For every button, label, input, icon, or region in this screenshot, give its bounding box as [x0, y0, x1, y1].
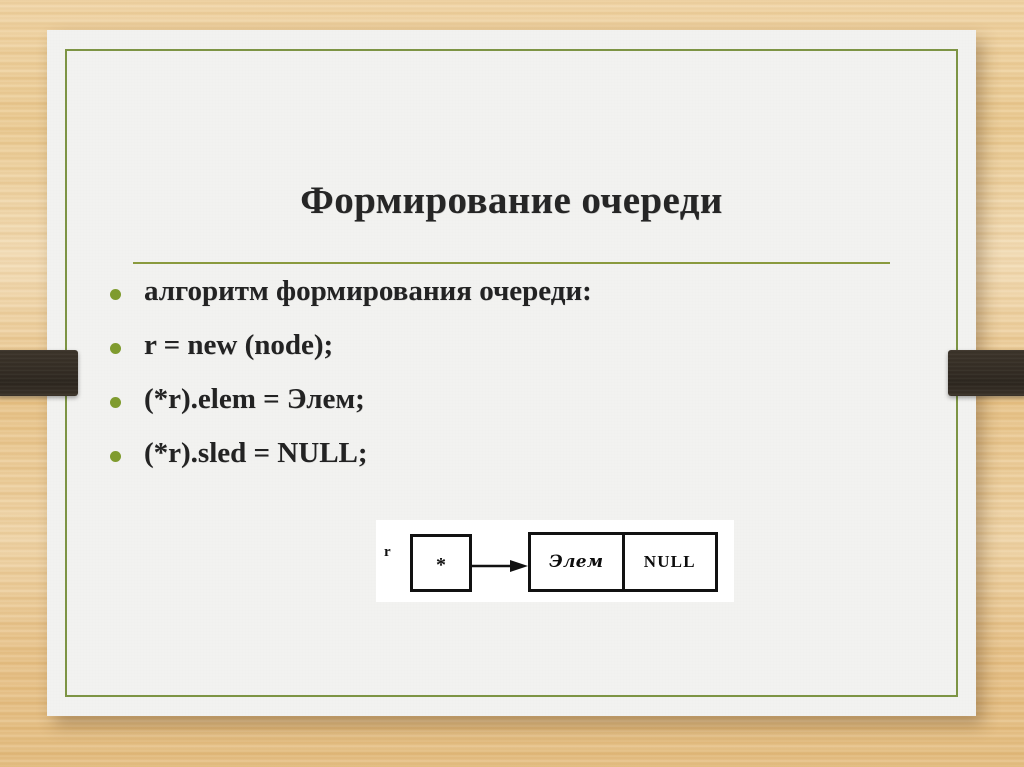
- arrow-right-icon: [472, 560, 528, 572]
- slide-paper: Формирование очереди алгоритм формирован…: [47, 30, 976, 716]
- side-tab-left: [0, 350, 78, 396]
- page-title: Формирование очереди: [47, 178, 976, 223]
- list-item: (*r).sled = NULL;: [110, 435, 910, 489]
- side-tab-right: [948, 350, 1024, 396]
- list-item-label: (*r).sled = NULL;: [144, 435, 368, 471]
- linked-list-diagram: r * Элем NULL: [376, 520, 734, 602]
- bullet-list: алгоритм формирования очереди: r = new (…: [110, 273, 910, 489]
- diagram-node-elem-cell: Элем: [531, 535, 625, 589]
- list-item-label: (*r).elem = Элем;: [144, 381, 365, 417]
- title-divider: [133, 262, 890, 264]
- diagram-pointer-star: *: [436, 555, 446, 575]
- bullet-dot-icon: [110, 343, 121, 354]
- list-item-label: алгоритм формирования очереди:: [144, 273, 592, 309]
- list-item: r = new (node);: [110, 327, 910, 381]
- list-item: алгоритм формирования очереди:: [110, 273, 910, 327]
- diagram-node-box: Элем NULL: [528, 532, 718, 592]
- diagram-node-null-cell: NULL: [625, 535, 716, 589]
- bullet-dot-icon: [110, 451, 121, 462]
- diagram-pointer-box: *: [410, 534, 472, 592]
- bullet-dot-icon: [110, 289, 121, 300]
- list-item-label: r = new (node);: [144, 327, 333, 363]
- list-item: (*r).elem = Элем;: [110, 381, 910, 435]
- slide-background: Формирование очереди алгоритм формирован…: [0, 0, 1024, 767]
- diagram-pointer-label: r: [384, 544, 391, 561]
- bullet-dot-icon: [110, 397, 121, 408]
